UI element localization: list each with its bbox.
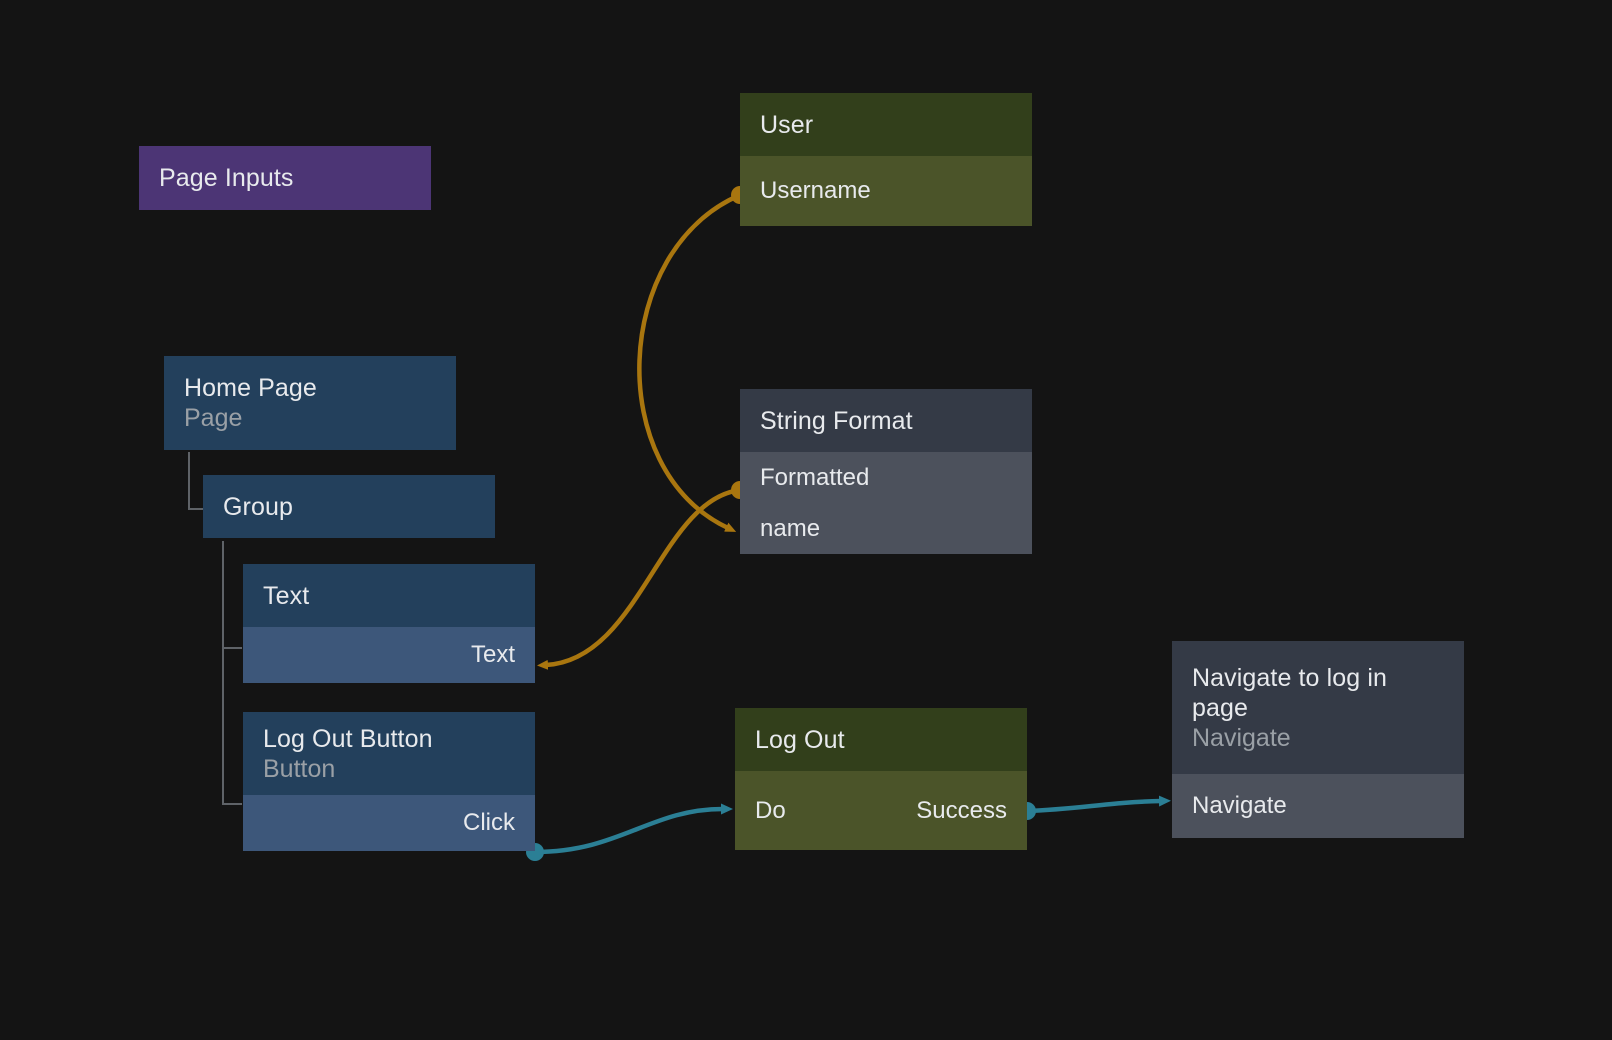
node-navigate-body: Navigate	[1172, 774, 1464, 838]
node-log-out-button-header[interactable]: Log Out Button Button	[243, 712, 535, 795]
node-page-inputs-title: Page Inputs	[159, 163, 411, 193]
node-home-page-subtitle: Page	[184, 403, 436, 433]
node-log-out-button[interactable]: Log Out Button Button Click	[243, 712, 535, 851]
tree-line-group-stub-button	[222, 803, 242, 805]
port-row-username[interactable]: Username	[740, 156, 1032, 226]
node-text-title: Text	[263, 581, 515, 611]
node-group[interactable]: Group	[203, 475, 495, 538]
port-row-click[interactable]: Click	[243, 795, 535, 851]
port-label-name: name	[760, 515, 820, 543]
node-group-title: Group	[223, 492, 475, 522]
port-label-success: Success	[916, 797, 1007, 825]
node-string-format[interactable]: String Format Formatted name	[740, 389, 1032, 554]
node-home-page[interactable]: Home Page Page	[164, 356, 456, 450]
node-navigate-subtitle: Navigate	[1192, 723, 1444, 753]
node-string-format-title: String Format	[760, 406, 1012, 436]
node-user-title: User	[760, 110, 1012, 140]
tree-line-homepage-vertical	[188, 452, 190, 510]
node-string-format-header[interactable]: String Format	[740, 389, 1032, 452]
port-label-click: Click	[463, 809, 515, 837]
wire-username-to-name	[639, 186, 749, 528]
node-page-inputs[interactable]: Page Inputs	[139, 146, 431, 210]
node-text[interactable]: Text Text	[243, 564, 535, 683]
node-log-out-title: Log Out	[755, 725, 1007, 755]
node-user-body: Username	[740, 156, 1032, 226]
node-text-header[interactable]: Text	[243, 564, 535, 627]
tree-line-group-stub-text	[222, 647, 242, 649]
node-user[interactable]: User Username	[740, 93, 1032, 226]
node-log-out[interactable]: Log Out Do Success	[735, 708, 1027, 850]
node-log-out-header[interactable]: Log Out	[735, 708, 1027, 771]
port-row-navigate[interactable]: Navigate	[1172, 774, 1464, 838]
wire-click-to-do	[526, 809, 723, 861]
node-user-header[interactable]: User	[740, 93, 1032, 156]
node-navigate-title: Navigate to log in page	[1192, 663, 1444, 723]
port-row-name[interactable]: name	[740, 503, 1032, 554]
node-string-format-body: Formatted name	[740, 452, 1032, 554]
port-row-text[interactable]: Text	[243, 627, 535, 683]
port-row-formatted[interactable]: Formatted	[740, 452, 1032, 503]
port-label-text: Text	[471, 641, 515, 669]
node-navigate-header[interactable]: Navigate to log in page Navigate	[1172, 641, 1464, 774]
node-navigate[interactable]: Navigate to log in page Navigate Navigat…	[1172, 641, 1464, 838]
node-log-out-body: Do Success	[735, 771, 1027, 850]
port-label-do: Do	[755, 797, 786, 825]
node-log-out-button-subtitle: Button	[263, 754, 515, 784]
tree-line-group-vertical	[222, 541, 224, 805]
node-text-body: Text	[243, 627, 535, 683]
node-log-out-button-title: Log Out Button	[263, 724, 515, 754]
node-page-inputs-header[interactable]: Page Inputs	[139, 146, 431, 210]
port-label-formatted: Formatted	[760, 464, 869, 492]
port-label-username: Username	[760, 177, 871, 205]
port-row-do-success[interactable]: Do Success	[735, 771, 1027, 850]
wire-success-to-navigate	[1018, 801, 1161, 820]
node-graph-canvas[interactable]: Page Inputs User Username String Format …	[0, 0, 1612, 1040]
wire-formatted-to-text	[546, 481, 749, 665]
node-home-page-header[interactable]: Home Page Page	[164, 356, 456, 450]
node-home-page-title: Home Page	[184, 373, 436, 403]
node-log-out-button-body: Click	[243, 795, 535, 851]
port-label-navigate: Navigate	[1192, 792, 1287, 820]
node-group-header[interactable]: Group	[203, 475, 495, 538]
